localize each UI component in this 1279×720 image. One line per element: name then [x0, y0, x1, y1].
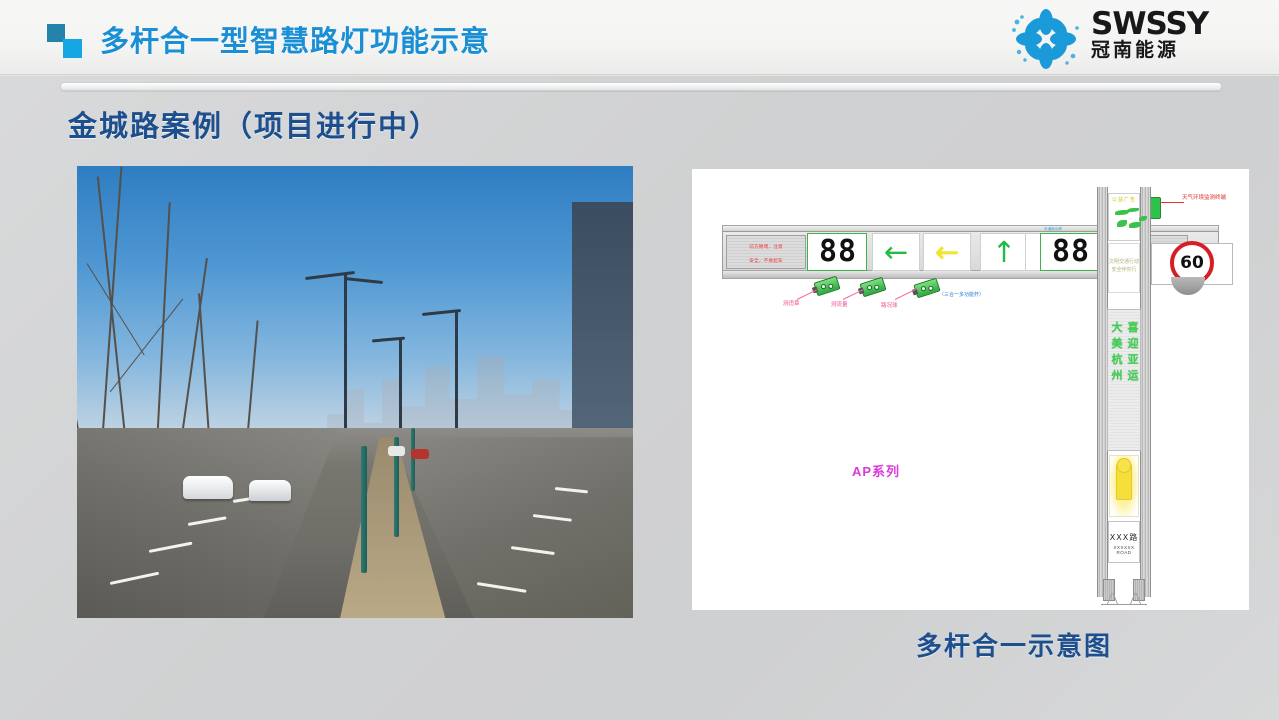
lane-countdown-left: 8 8: [807, 233, 867, 271]
photo-median-tree: [361, 446, 367, 573]
photo-median-tree: [411, 428, 415, 491]
logo-text: SWSSY 冠南能源: [1091, 8, 1208, 62]
pole-eco-line-1: 文明交通行动: [1109, 244, 1139, 266]
logo-cn: 冠南能源: [1091, 40, 1208, 62]
digit: 8: [819, 237, 836, 267]
vms-left-line-2: 安全，不要超车: [727, 250, 805, 264]
arrow-up-icon: ↑: [992, 238, 1016, 267]
diagram-caption: 多杆合一示意图: [916, 626, 1112, 663]
sensor-label: 天气环境监测终端: [1182, 193, 1226, 201]
ap-series-label: AP系列: [852, 461, 900, 480]
landscape-art-icon: [1113, 206, 1135, 236]
camera-label-3: 路况球: [881, 301, 898, 309]
camera-icon: [913, 278, 940, 299]
site-photo: [77, 166, 633, 618]
lane-arrow-3: ↑: [980, 233, 1028, 271]
arrow-left-icon: ←: [935, 238, 959, 267]
square-light-icon: [63, 39, 82, 58]
section-subtitle: 金城路案例（项目进行中）: [68, 103, 440, 145]
street-name-en: XXXXXX ROAD: [1109, 543, 1139, 555]
company-logo: SWSSY 冠南能源: [1007, 6, 1257, 70]
camera-callout-group: 测违章 测流量 路况球 （三合一多功能杆）: [787, 277, 1017, 311]
smart-pole: 公益广告 文明交通行动 安全伴你行 喜迎亚运 大美杭州: [1097, 187, 1151, 597]
lane-countdown-right: 8 8: [1040, 233, 1100, 271]
lane-arrow-2: ←: [923, 233, 971, 271]
digit: 8: [1071, 237, 1088, 267]
logo-en: SWSSY: [1091, 8, 1208, 40]
vms-left-panel: 前方拥堵，注意 安全，不要超车: [726, 235, 806, 269]
header-divider-rule: [60, 82, 1222, 91]
pole-edge-right: [1140, 187, 1151, 597]
photo-car: [411, 449, 430, 460]
photo-street-lamp: [455, 311, 458, 447]
pole-eco-line-2: 安全伴你行: [1109, 266, 1139, 274]
pole-banner-title: 公益广告: [1109, 194, 1139, 203]
callout-leader: [797, 289, 817, 300]
digit: 8: [1052, 237, 1069, 267]
pole-banner-col-left: 大美杭州: [1110, 320, 1124, 384]
pole-led-banner: 喜迎亚运 大美杭州: [1107, 309, 1141, 451]
speed-limit-value: 60: [1180, 253, 1204, 273]
pole-eco-text-panel: 文明交通行动 安全伴你行: [1108, 243, 1140, 293]
photo-building: [572, 202, 633, 455]
header-square-decoration: [47, 24, 87, 58]
pole-base: [1099, 579, 1149, 605]
camera-label-2: 测流量: [831, 300, 848, 308]
slide-header: 多杆合一型智慧路灯功能示意: [0, 0, 1279, 76]
emergency-call-box-icon: [1109, 455, 1139, 517]
camera-icon: [813, 276, 840, 297]
lane-arrow-1: ←: [872, 233, 920, 271]
pole-diagram: 前方拥堵，注意 安全，不要超车 8 8 ← ← ↑ ↑ 8 8 车道指示屏 温度…: [692, 169, 1249, 610]
pole-banner-panel: 公益广告: [1108, 193, 1140, 241]
digit: 8: [838, 237, 855, 267]
vms-left-line-1: 前方拥堵，注意: [727, 236, 805, 250]
sensor-leader-line: [1160, 202, 1184, 203]
photo-car: [183, 476, 233, 500]
photo-car: [249, 480, 291, 501]
lane-display-label: 车道指示屏: [1044, 227, 1062, 232]
water-droplet-flower-icon: [1007, 8, 1085, 70]
street-name-cn: XXX路: [1109, 522, 1139, 543]
street-name-plate: XXX路 XXXXXX ROAD: [1108, 521, 1140, 563]
callout-leader: [843, 289, 863, 300]
camera-label-1: 测违章: [783, 299, 800, 307]
dome-camera-icon: [1171, 277, 1205, 295]
arrow-left-icon: ←: [884, 238, 908, 267]
slide-canvas: 多杆合一型智慧路灯功能示意: [0, 0, 1279, 720]
page-title: 多杆合一型智慧路灯功能示意: [100, 18, 490, 60]
pole-banner-col-right: 喜迎亚运: [1126, 320, 1140, 384]
camera-note: （三合一多功能杆）: [939, 291, 984, 298]
camera-icon: [859, 277, 886, 298]
photo-car: [388, 446, 405, 456]
